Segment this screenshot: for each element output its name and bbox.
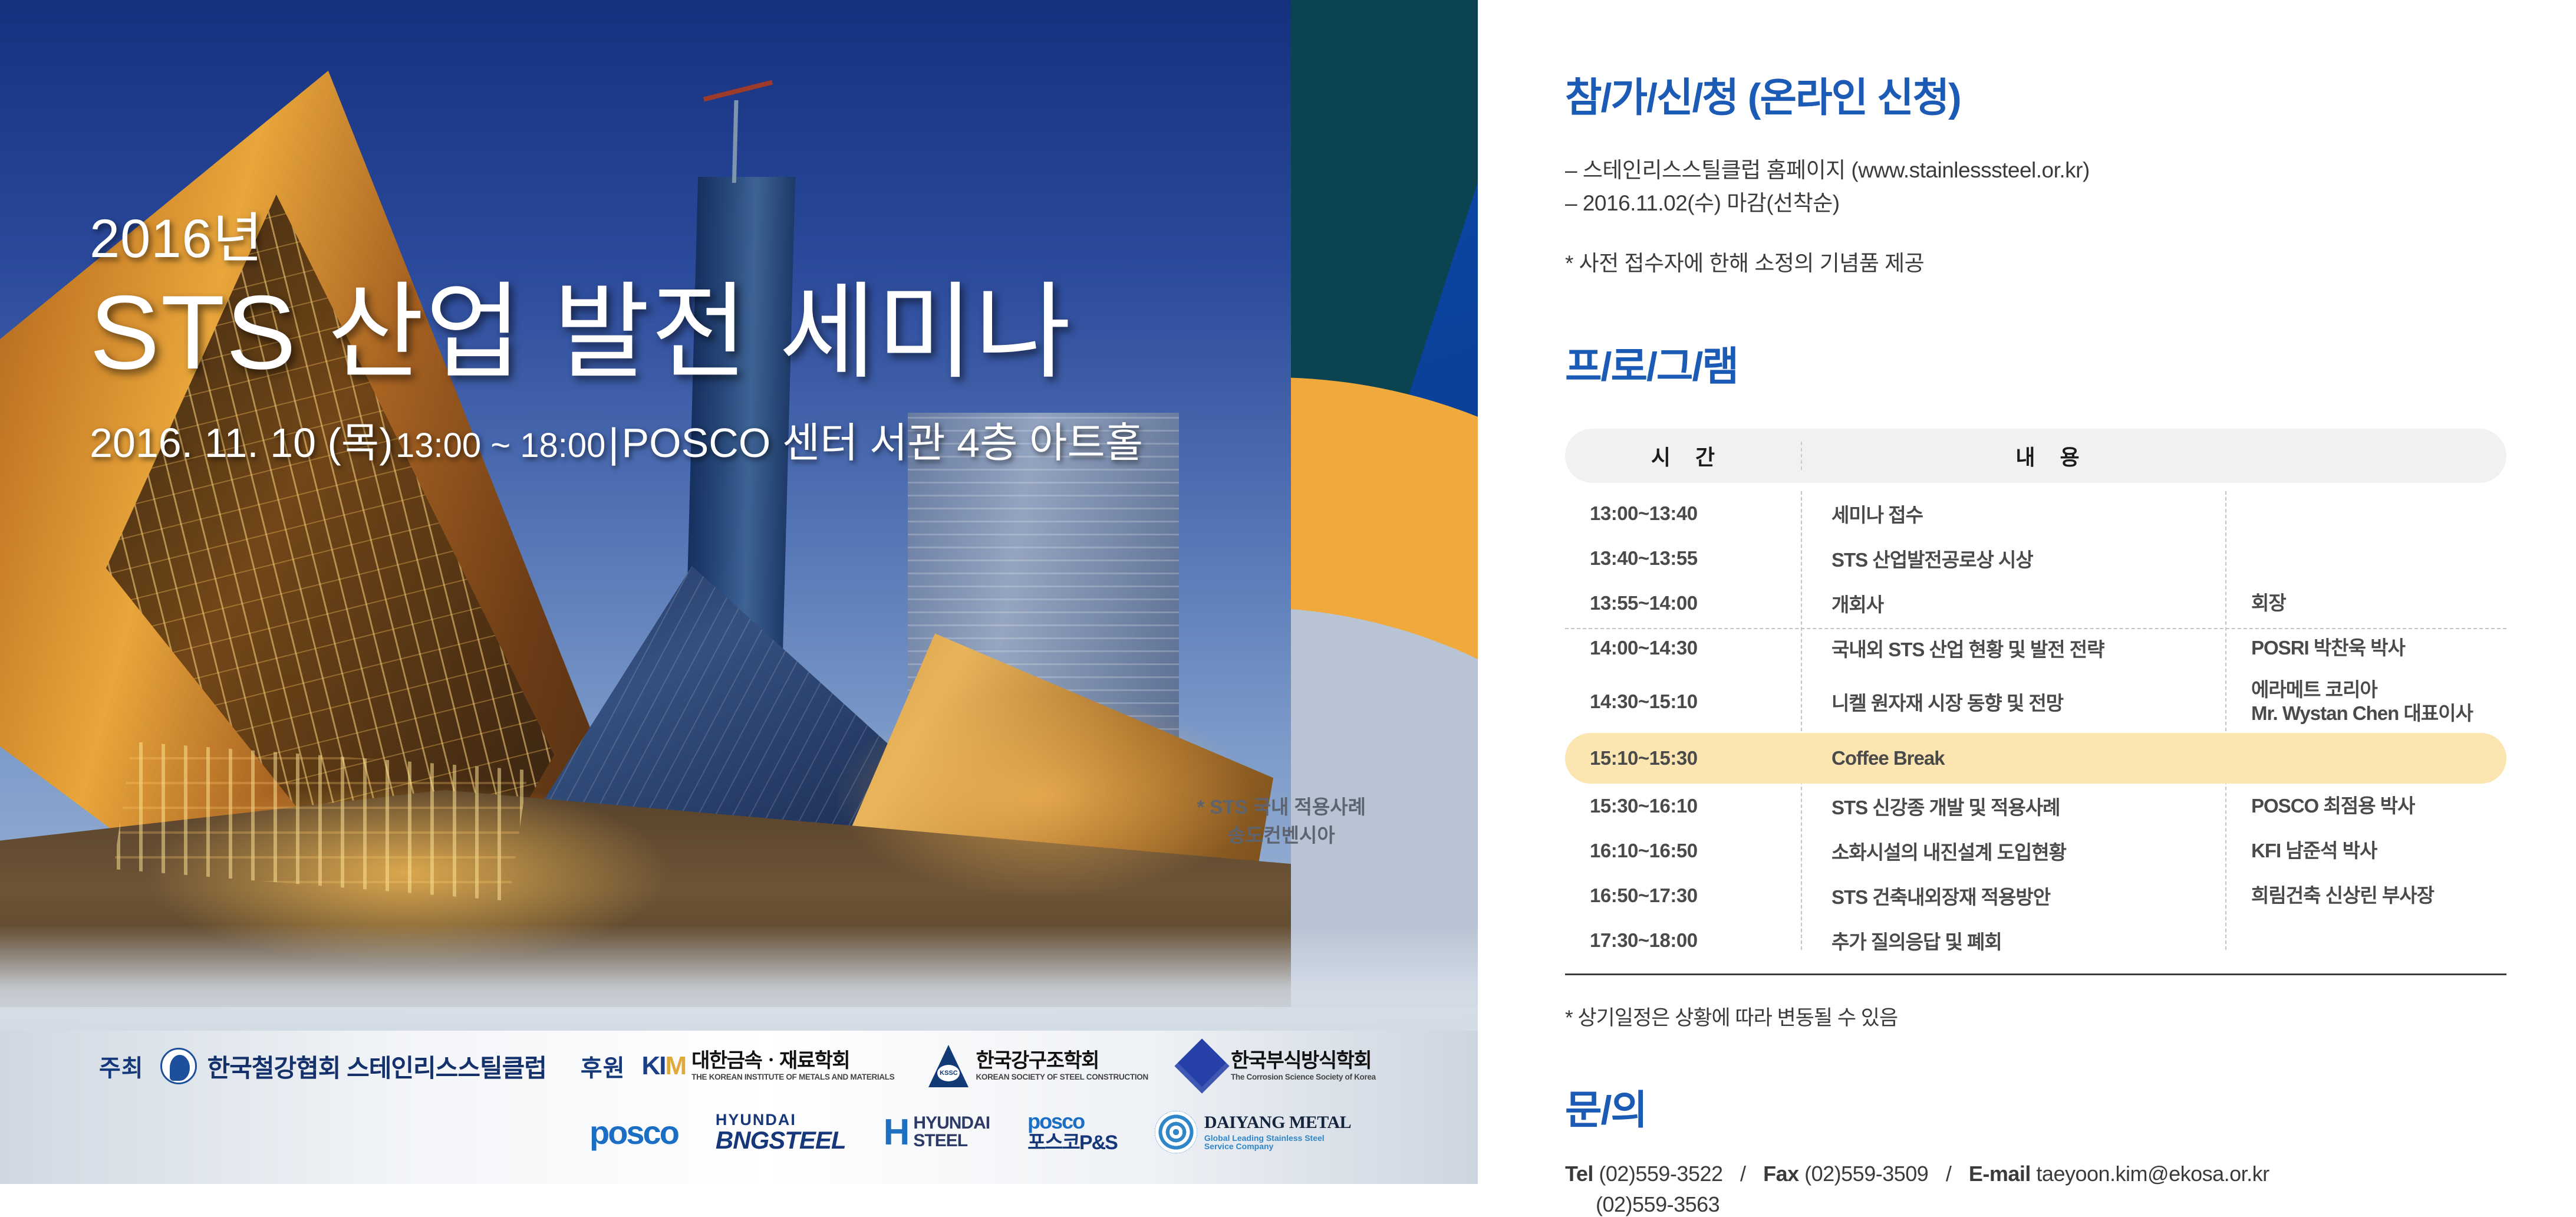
row-time: 14:00~14:30 — [1565, 637, 1801, 659]
poster-venue-separator: | — [608, 420, 619, 466]
apply-line-website: – 스테인리스스틸클럽 홈페이지 (www.stainlesssteel.or.… — [1565, 154, 2506, 187]
row-speaker: 희림건축 신상린 부사장 — [2225, 884, 2506, 907]
row-content: 개회사 — [1801, 589, 2225, 617]
daiyang-tag2: Service Company — [1204, 1142, 1351, 1151]
contact-fax-value: (02)559-3509 — [1804, 1162, 1928, 1186]
poster-headline: 2016년 STS 산업 발전 세미나 2016. 11. 10 (목) 13:… — [90, 209, 1327, 469]
row-time: 13:00~13:40 — [1565, 502, 1801, 525]
row-speaker: POSCO 최점용 박사 — [2225, 794, 2506, 818]
row-time: 15:30~16:10 — [1565, 795, 1801, 817]
row-time: 16:50~17:30 — [1565, 884, 1801, 907]
sponsor-row-companies: posco HYUNDAI BNGSTEEL H HYUNDAI STEEL p… — [0, 1097, 1478, 1167]
table-row: 13:55~14:00개회사회장 — [1565, 581, 2506, 626]
contact-fax-label: Fax — [1763, 1162, 1799, 1186]
kim-mark-icon: KIM — [642, 1051, 686, 1081]
row-content: 세미나 접수 — [1801, 499, 2225, 528]
contact-tel-label: Tel — [1565, 1162, 1593, 1186]
host-label: 주최 — [99, 1049, 144, 1083]
row-content: 니켈 원자재 시장 동향 및 전망 — [1801, 688, 2225, 716]
daiyang-tag1: Global Leading Stainless Steel — [1204, 1134, 1351, 1143]
table-row: 16:50~17:30STS 건축내외장재 적용방안희림건축 신상린 부사장 — [1565, 873, 2506, 918]
section-heading-program: 프/로/그/램 — [1565, 334, 2506, 392]
poster-year: 2016년 — [90, 209, 1327, 269]
kssc-name-kr: 한국강구조학회 — [976, 1051, 1148, 1071]
row-time: 17:30~18:00 — [1565, 929, 1801, 952]
row-content: Coffee Break — [1801, 747, 2225, 769]
row-speaker: 에라메트 코리아Mr. Wystan Chen 대표이사 — [2225, 678, 2506, 726]
column-header-content: 내 용 — [1801, 440, 2506, 471]
photo-glow-right — [837, 696, 1250, 896]
logo-posco-pns: posco 포스코P&S — [1027, 1110, 1117, 1153]
poster-subline: 2016. 11. 10 (목) 13:00 ~ 18:00 | POSCO 센… — [90, 410, 1327, 469]
row-time: 13:55~14:00 — [1565, 592, 1801, 614]
program-table-footer-rule — [1565, 973, 2506, 975]
poster-venue: POSCO 센터 서관 4층 아트홀 — [621, 420, 1143, 466]
apply-line-deadline: – 2016.11.02(수) 마감(선착순) — [1565, 187, 2506, 220]
photo-caption-line1: * STS 국내 적용사례 — [1197, 793, 1366, 821]
ksa-emblem-icon — [160, 1048, 197, 1084]
contact-tel-value: (02)559-3522 — [1599, 1162, 1722, 1186]
contact-tel-secondary: (02)559-3563 — [1565, 1192, 2506, 1217]
kssc-name-en: KOREAN SOCIETY OF STEEL CONSTRUCTION — [976, 1073, 1148, 1081]
table-row: 14:00~14:30국내외 STS 산업 현황 및 발전 전략POSRI 박찬… — [1565, 626, 2506, 670]
hyundai-steel-bottom: STEEL — [913, 1132, 990, 1150]
poster-left-panel: 2016년 STS 산업 발전 세미나 2016. 11. 10 (목) 13:… — [0, 0, 1478, 1184]
section-heading-contact: 문/의 — [1565, 1077, 2506, 1136]
cssk-text: 한국부식방식학회 The Corrosion Science Society o… — [1231, 1051, 1376, 1081]
sponsor-label: 후원 — [581, 1049, 625, 1083]
kssc-text: 한국강구조학회 KOREAN SOCIETY OF STEEL CONSTRUC… — [976, 1051, 1148, 1081]
row-content: STS 산업발전공로상 시상 — [1801, 544, 2225, 573]
kssc-triangle-icon — [928, 1045, 969, 1087]
program-table-body: 13:00~13:40세미나 접수13:40~13:55STS 산업발전공로상 … — [1565, 483, 2506, 963]
photo-caption: * STS 국내 적용사례 송도컨벤시아 — [1197, 793, 1366, 850]
table-row: 17:30~18:00추가 질의응답 및 폐회 — [1565, 918, 2506, 963]
poster-date: 2016. 11. 10 (목) — [90, 420, 393, 466]
contact-email-value[interactable]: taeyoon.kim@ekosa.or.kr — [2036, 1162, 2269, 1186]
program-note: * 상기일정은 상황에 따라 변동될 수 있음 — [1565, 1001, 2506, 1031]
daiyang-target-icon — [1155, 1111, 1197, 1153]
sponsor-row-societies: 주최 한국철강협회 스테인리스스틸클럽 후원 KIM 대한금속ㆍ재료학회 THE… — [0, 1035, 1478, 1097]
venue-photo — [0, 0, 1291, 1038]
row-content: 소화시설의 내진설계 도입현황 — [1801, 837, 2225, 865]
table-row: 14:30~15:10니켈 원자재 시장 동향 및 전망에라메트 코리아Mr. … — [1565, 670, 2506, 733]
logo-posco: posco — [589, 1113, 678, 1152]
sponsor-logos: 주최 한국철강협회 스테인리스스틸클럽 후원 KIM 대한금속ㆍ재료학회 THE… — [0, 1035, 1478, 1167]
info-panel: 참/가/신/청 (온라인 신청) – 스테인리스스틸클럽 홈페이지 (www.s… — [1478, 0, 2576, 1184]
row-content: STS 건축내외장재 적용방안 — [1801, 881, 2225, 910]
row-speaker: 회장 — [2225, 591, 2506, 615]
bng-hyundai: HYUNDAI — [716, 1112, 846, 1128]
row-content: STS 신강종 개발 및 적용사례 — [1801, 792, 2225, 820]
contact-separator-2: / — [1934, 1162, 1964, 1186]
daiyang-text: DAIYANG METAL Global Leading Stainless S… — [1204, 1113, 1351, 1151]
logo-kssc: 한국강구조학회 KOREAN SOCIETY OF STEEL CONSTRUC… — [928, 1045, 1148, 1087]
logo-bng-steel: HYUNDAI BNGSTEEL — [716, 1112, 846, 1153]
contact-line: Tel (02)559-3522 / Fax (02)559-3509 / E-… — [1565, 1162, 2506, 1186]
row-content: 국내외 STS 산업 현황 및 발전 전략 — [1801, 634, 2225, 662]
column-header-time: 시 간 — [1565, 440, 1801, 471]
kim-text: 대한금속ㆍ재료학회 THE KOREAN INSTITUTE OF METALS… — [691, 1051, 894, 1081]
logo-daiyang-metal: DAIYANG METAL Global Leading Stainless S… — [1155, 1111, 1351, 1153]
pns-top: posco — [1027, 1110, 1117, 1133]
section-heading-apply: 참/가/신/청 (온라인 신청) — [1565, 65, 2506, 123]
apply-list: – 스테인리스스틸클럽 홈페이지 (www.stainlesssteel.or.… — [1565, 154, 2506, 219]
logo-hyundai-steel: H HYUNDAI STEEL — [884, 1111, 990, 1153]
pns-bottom: 포스코P&S — [1027, 1133, 1117, 1154]
hyundai-steel-text: HYUNDAI STEEL — [913, 1114, 990, 1150]
kim-name-en: THE KOREAN INSTITUTE OF METALS AND MATER… — [691, 1073, 894, 1081]
row-speaker: KFI 남준석 박사 — [2225, 839, 2506, 863]
daiyang-name: DAIYANG METAL — [1204, 1113, 1351, 1132]
row-time: 16:10~16:50 — [1565, 840, 1801, 862]
logo-kim: KIM 대한금속ㆍ재료학회 THE KOREAN INSTITUTE OF ME… — [642, 1051, 895, 1081]
poster-title: STS 산업 발전 세미나 — [90, 277, 1327, 389]
row-time: 13:40~13:55 — [1565, 547, 1801, 570]
kim-name-kr: 대한금속ㆍ재료학회 — [691, 1051, 894, 1071]
row-speaker: POSRI 박찬욱 박사 — [2225, 636, 2506, 660]
bng-sub: STEEL — [769, 1126, 845, 1154]
cssk-name-en: The Corrosion Science Society of Korea — [1231, 1073, 1376, 1081]
program-table-header: 시 간 내 용 — [1565, 429, 2506, 483]
hyundai-h-icon: H — [884, 1111, 910, 1153]
host-name: 한국철강협회 스테인리스스틸클럽 — [207, 1048, 546, 1084]
contact-email-label: E-mail — [1969, 1162, 2031, 1186]
table-row: 13:00~13:40세미나 접수 — [1565, 491, 2506, 536]
row-content: 추가 질의응답 및 폐회 — [1801, 926, 2225, 955]
contact-separator-1: / — [1728, 1162, 1758, 1186]
hyundai-steel-top: HYUNDAI — [913, 1114, 990, 1132]
photo-caption-line2: 송도컨벤시아 — [1197, 821, 1366, 850]
poster-time: 13:00 ~ 18:00 — [396, 426, 605, 465]
table-row: 16:10~16:50소화시설의 내진설계 도입현황KFI 남준석 박사 — [1565, 828, 2506, 873]
cssk-name-kr: 한국부식방식학회 — [1231, 1051, 1376, 1071]
apply-note: * 사전 접수자에 한해 소정의 기념품 제공 — [1565, 245, 2506, 277]
bng-main: BNG — [716, 1126, 769, 1154]
program-table: 시 간 내 용 13:00~13:40세미나 접수13:40~13:55STS … — [1565, 429, 2506, 975]
table-row: 13:40~13:55STS 산업발전공로상 시상 — [1565, 536, 2506, 581]
table-row: 15:30~16:10STS 신강종 개발 및 적용사례POSCO 최점용 박사 — [1565, 784, 2506, 828]
table-row: 15:10~15:30Coffee Break — [1565, 733, 2506, 784]
row-time: 15:10~15:30 — [1565, 747, 1801, 769]
row-time: 14:30~15:10 — [1565, 690, 1801, 713]
cssk-diamond-icon — [1174, 1038, 1229, 1093]
logo-cssk: 한국부식방식학회 The Corrosion Science Society o… — [1182, 1047, 1376, 1086]
